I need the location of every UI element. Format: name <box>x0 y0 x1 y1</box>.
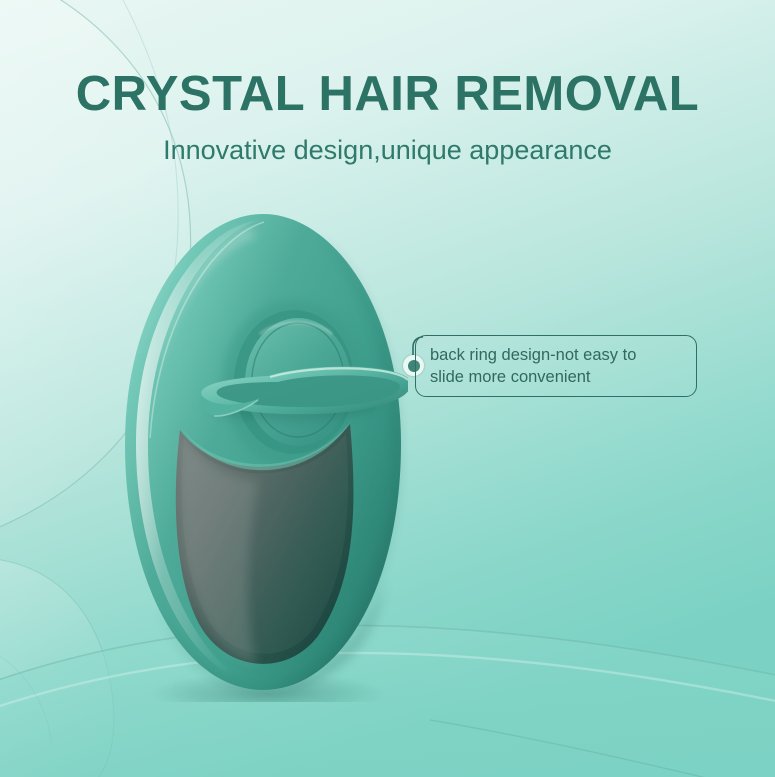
callout-line-2: slide more convenient <box>430 366 682 388</box>
bg-arc-lower-left <box>0 558 114 777</box>
callout-back-ring: back ring design-not easy to slide more … <box>415 335 697 397</box>
page-title: CRYSTAL HAIR REMOVAL <box>0 66 775 122</box>
page-subtitle: Innovative design,unique appearance <box>0 135 775 166</box>
product-device <box>118 212 408 702</box>
bg-arc-lower-right <box>430 720 775 777</box>
product-device-svg <box>118 212 408 702</box>
bg-arc-corner <box>0 640 52 745</box>
product-poster: CRYSTAL HAIR REMOVAL Innovative design,u… <box>0 0 775 777</box>
bg-blob-lower-left <box>0 558 114 777</box>
callout-line-1: back ring design-not easy to <box>430 344 682 366</box>
